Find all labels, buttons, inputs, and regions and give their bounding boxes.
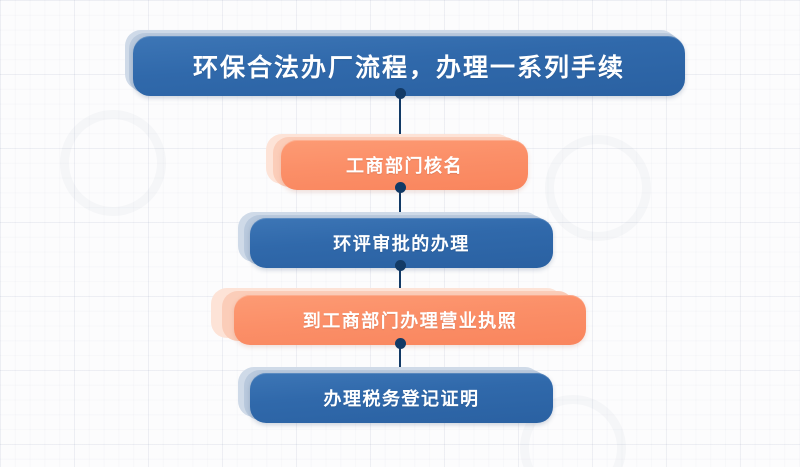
connector-dot-step1 bbox=[395, 182, 406, 193]
flow-node-title-label: 环保合法办厂流程，办理一系列手续 bbox=[193, 48, 625, 84]
flow-node-step3[interactable]: 到工商部门办理营业执照 bbox=[234, 295, 586, 345]
flow-node-step2-label: 环评审批的办理 bbox=[333, 230, 470, 256]
flow-node-step3-label: 到工商部门办理营业执照 bbox=[303, 307, 518, 333]
flow-node-step4[interactable]: 办理税务登记证明 bbox=[250, 373, 553, 423]
connector-dot-title bbox=[395, 88, 406, 99]
watermark-ring-decoration bbox=[545, 135, 651, 241]
flow-node-step1[interactable]: 工商部门核名 bbox=[281, 140, 528, 190]
connector-dot-step3 bbox=[395, 338, 406, 349]
watermark-ring-decoration bbox=[60, 110, 166, 216]
connector-dot-step2 bbox=[395, 260, 406, 271]
flowchart-canvas: 环保合法办厂流程，办理一系列手续 工商部门核名 环评审批的办理 到工商部门办理营… bbox=[0, 0, 800, 467]
flow-node-step1-label: 工商部门核名 bbox=[346, 152, 463, 178]
flow-node-title[interactable]: 环保合法办厂流程，办理一系列手续 bbox=[133, 36, 685, 96]
flow-node-step4-label: 办理税务登记证明 bbox=[324, 385, 480, 411]
